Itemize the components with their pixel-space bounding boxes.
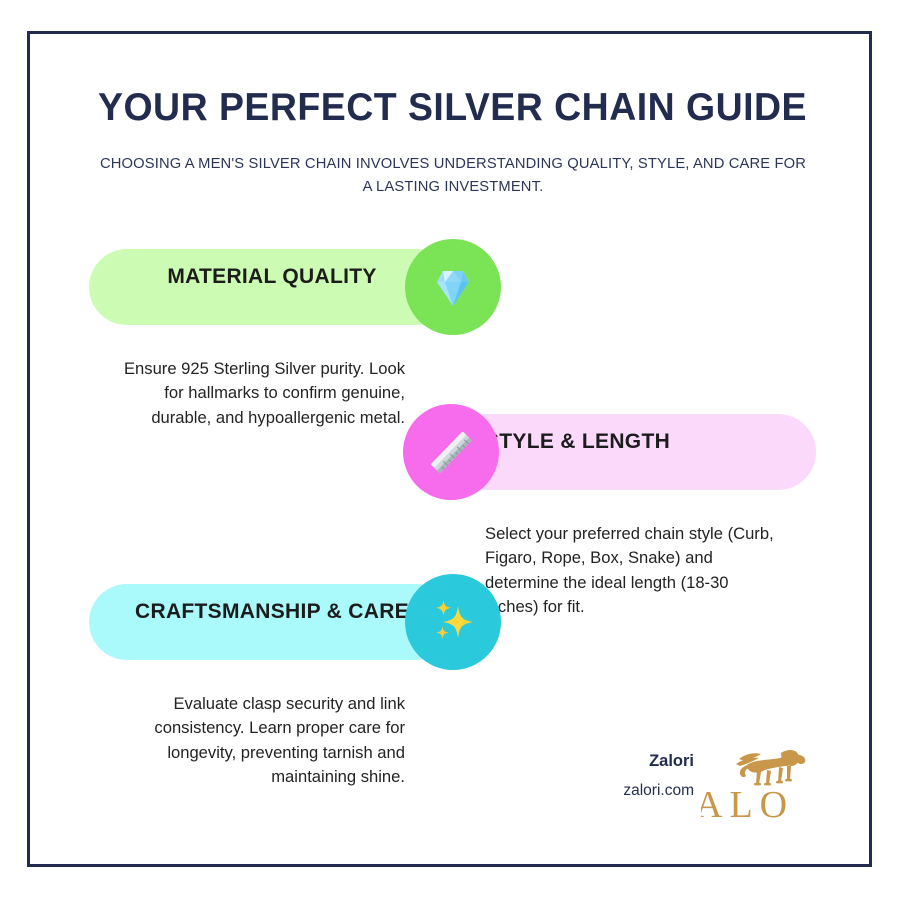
page-subtitle: CHOOSING A MEN'S SILVER CHAIN INVOLVES U… bbox=[94, 152, 812, 198]
sparkles-icon bbox=[425, 594, 481, 650]
poster-header: YOUR PERFECT SILVER CHAIN GUIDE CHOOSING… bbox=[30, 86, 875, 198]
brand-name: Zalori bbox=[584, 752, 694, 772]
section-title-style-length: STYLE & LENGTH bbox=[485, 404, 670, 480]
infographic-poster: YOUR PERFECT SILVER CHAIN GUIDE CHOOSING… bbox=[0, 0, 900, 900]
gem-stone-icon bbox=[427, 261, 479, 313]
section-header-row: MATERIAL QUALITY bbox=[30, 239, 875, 335]
straight-ruler-icon bbox=[422, 423, 480, 481]
section-material-quality: MATERIAL QUALITY bbox=[30, 239, 875, 335]
section-icon-badge bbox=[403, 404, 499, 500]
poster-frame: YOUR PERFECT SILVER CHAIN GUIDE CHOOSING… bbox=[27, 31, 872, 867]
section-craftsmanship-care: CRAFTSMANSHIP & CARE Evaluate clasp secu… bbox=[30, 574, 875, 670]
brand-website[interactable]: zalori.com bbox=[584, 782, 694, 801]
section-header-row: CRAFTSMANSHIP & CARE bbox=[30, 574, 875, 670]
brand-logo: ALO bbox=[701, 746, 831, 828]
footer-branding: Zalori zalori.com bbox=[581, 746, 831, 832]
section-title-material-quality: MATERIAL QUALITY bbox=[89, 239, 455, 315]
page-title: YOUR PERFECT SILVER CHAIN GUIDE bbox=[47, 86, 858, 130]
section-style-length: STYLE & LENGTH bbox=[30, 404, 875, 500]
brand-wordmark: ALO bbox=[701, 786, 794, 824]
brand-text-block: Zalori zalori.com bbox=[584, 752, 694, 800]
section-header-row: STYLE & LENGTH bbox=[30, 404, 875, 500]
section-body-craftsmanship-care: Evaluate clasp security and link consist… bbox=[105, 692, 405, 790]
section-icon-badge bbox=[405, 239, 501, 335]
section-icon-badge bbox=[405, 574, 501, 670]
section-title-craftsmanship-care: CRAFTSMANSHIP & CARE bbox=[89, 574, 455, 650]
